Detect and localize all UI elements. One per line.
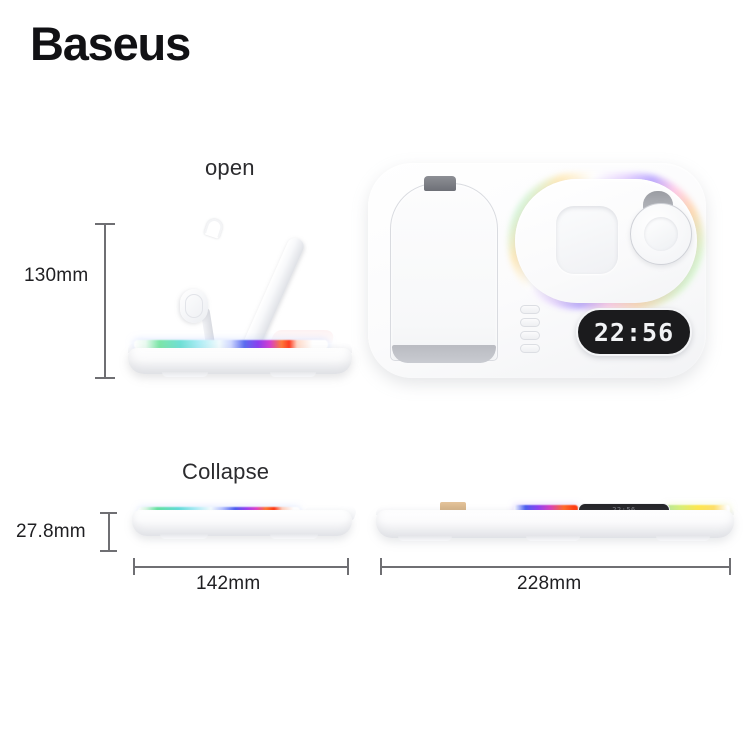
device-foot	[398, 536, 452, 541]
dimension-cap-top	[100, 512, 117, 514]
clock-time-text: 22:56	[594, 318, 674, 347]
baseus-logo: Baseus	[30, 20, 190, 67]
device-foot	[270, 534, 318, 539]
device-foot	[160, 534, 208, 539]
dimension-line-open-height	[104, 224, 106, 378]
indicator-pip	[520, 344, 540, 353]
dimension-cap-top	[95, 223, 115, 225]
dimension-label-collapsed-height: 27.8mm	[16, 521, 86, 543]
dimension-label-collapsed-length: 228mm	[517, 573, 581, 595]
indicator-pip	[520, 318, 540, 327]
device-foot	[656, 536, 710, 541]
dimension-line-collapsed-width	[134, 566, 348, 568]
collapsed-long-view-illustration: 22:56	[374, 498, 736, 554]
dimension-cap-bottom	[100, 550, 117, 552]
digital-clock-display: 22:56	[576, 308, 692, 356]
device-base-body	[132, 510, 352, 536]
phone-stand-shadow	[392, 345, 496, 363]
device-foot	[162, 372, 208, 377]
dimension-label-open-height: 130mm	[24, 265, 88, 287]
indicator-pip	[520, 331, 540, 340]
open-side-view-illustration	[120, 200, 360, 385]
phone-stand-slot	[390, 183, 498, 361]
open-section-caption: open	[205, 155, 255, 181]
device-foot	[526, 536, 580, 541]
dimension-cap-left	[133, 558, 135, 575]
indicator-pip	[520, 305, 540, 314]
watch-charging-puck-inner	[644, 217, 678, 251]
device-base-body	[376, 510, 734, 538]
product-spec-diagram: Baseus open 130mm 22:56	[0, 0, 750, 750]
dimension-cap-left	[380, 558, 382, 575]
airpods-charging-pad	[556, 206, 618, 274]
dimension-line-collapsed-height	[108, 513, 110, 551]
collapsed-side-view-illustration	[128, 500, 356, 552]
dimension-label-collapsed-width: 142mm	[196, 573, 260, 595]
device-foot	[270, 372, 316, 377]
dimension-cap-right	[729, 558, 731, 575]
device-top-view: 22:56	[368, 163, 706, 378]
stand-hook-detail	[204, 217, 225, 239]
device-base-body	[128, 348, 352, 374]
phone-stand-tab	[424, 176, 456, 191]
dimension-cap-right	[347, 558, 349, 575]
dimension-line-collapsed-length	[381, 566, 730, 568]
dimension-cap-bottom	[95, 377, 115, 379]
collapse-section-caption: Collapse	[182, 459, 269, 485]
watch-charger-puck-inner	[185, 294, 203, 318]
